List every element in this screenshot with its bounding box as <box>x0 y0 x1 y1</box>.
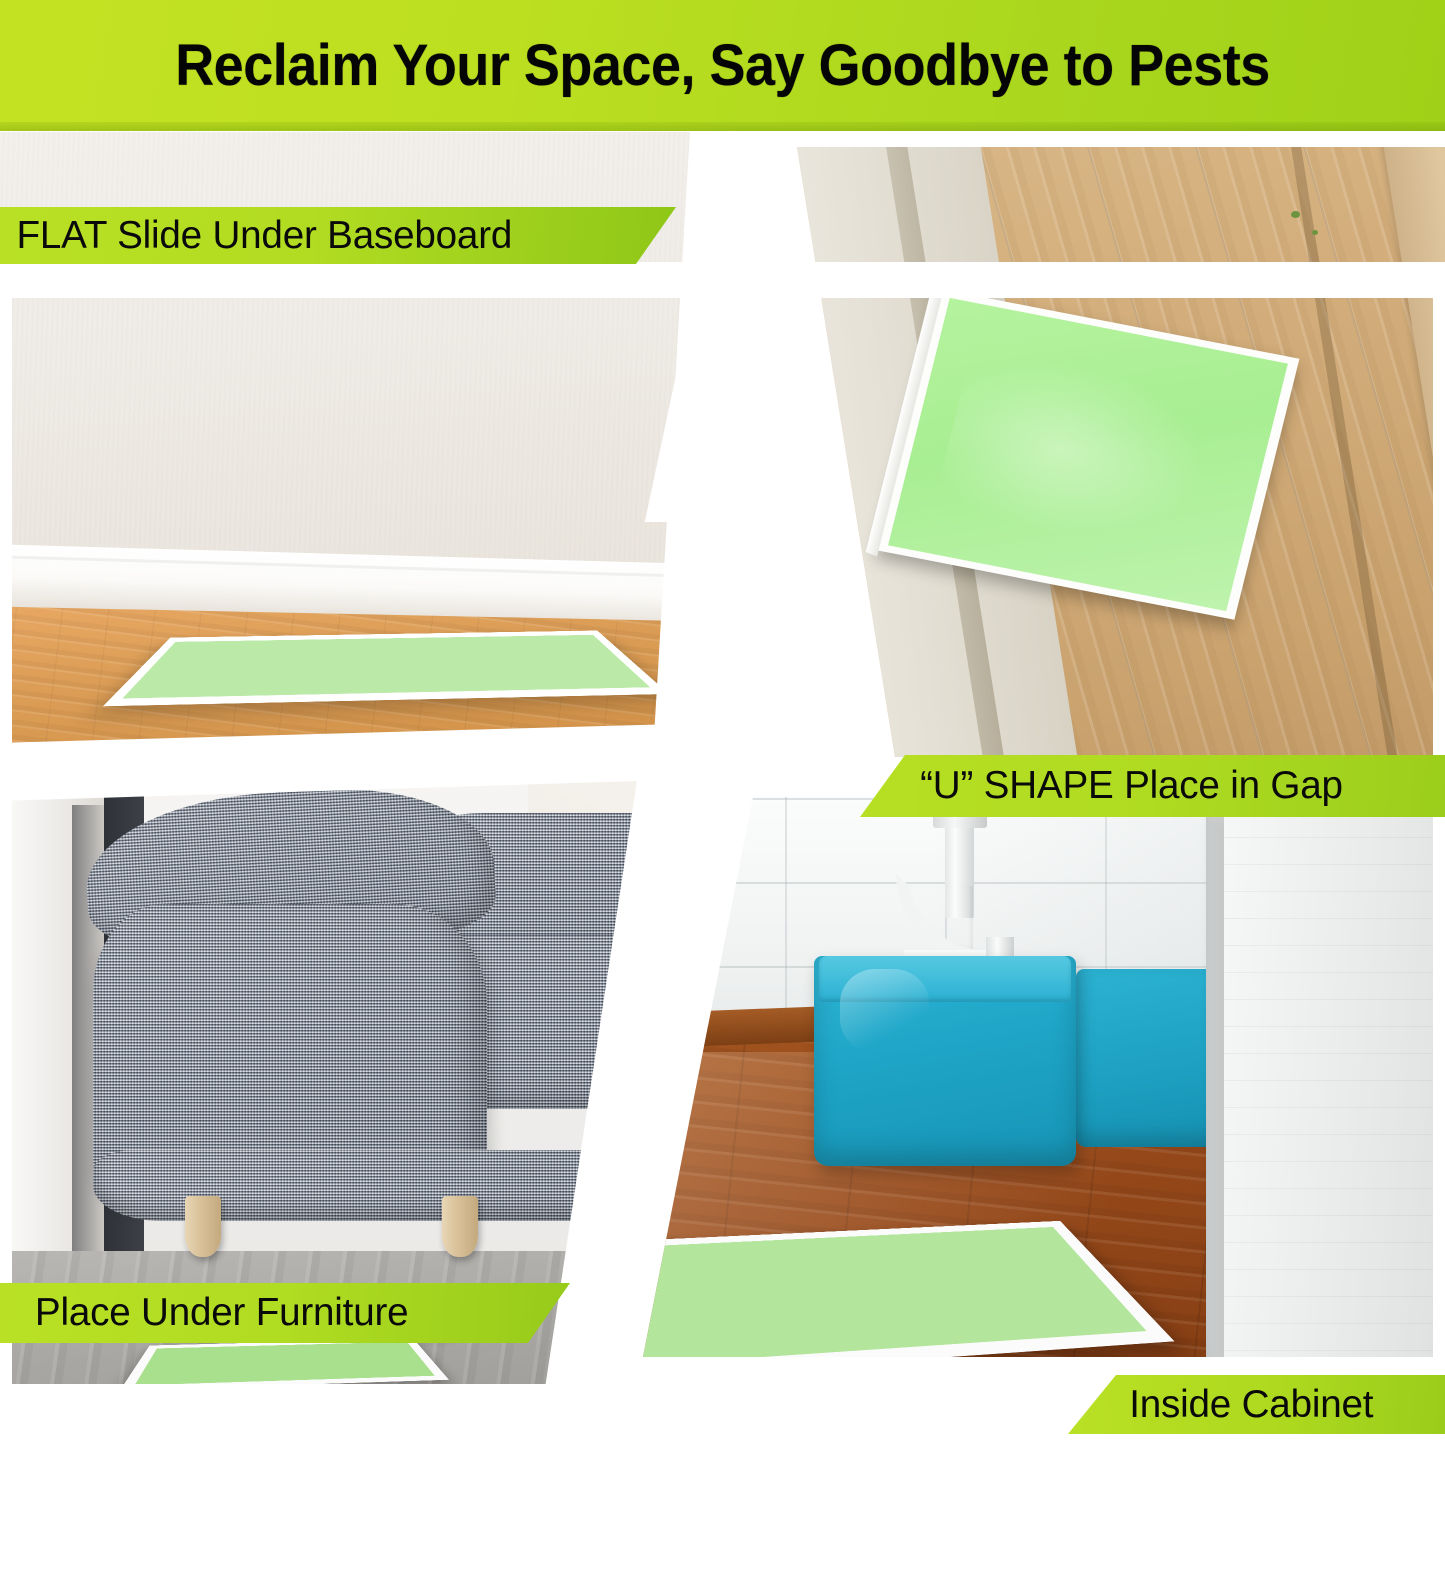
divider-left <box>0 262 12 1565</box>
label-text: FLAT Slide Under Baseboard <box>17 214 513 258</box>
label-place-under-furniture: Place Under Furniture <box>0 1283 570 1343</box>
teal-basin <box>814 956 1076 1166</box>
label-flat-under-baseboard: FLAT Slide Under Baseboard <box>0 207 676 264</box>
sofa-leg-right <box>442 1196 479 1257</box>
green-glue-trap-flat <box>102 631 668 707</box>
glue-surface <box>135 1342 435 1385</box>
glue-surface <box>625 1227 1146 1368</box>
panel-inside-cabinet <box>625 797 1445 1434</box>
label-text: “U” SHAPE Place in Gap <box>920 764 1343 808</box>
glue-surface <box>888 298 1288 611</box>
header-banner: Reclaim Your Space, Say Goodbye to Pests <box>0 0 1445 131</box>
debris-speck <box>1291 211 1300 218</box>
label-text: Place Under Furniture <box>35 1291 409 1335</box>
page-title: Reclaim Your Space, Say Goodbye to Pests <box>175 32 1270 99</box>
sofa-leg-left <box>185 1196 222 1257</box>
label-u-shape-place-in-gap: “U” SHAPE Place in Gap <box>860 755 1445 817</box>
glue-surface <box>122 635 650 699</box>
divider-panel3-bottom <box>0 1461 720 1551</box>
panel-u-shape-in-gap <box>745 147 1445 787</box>
label-inside-cabinet: Inside Cabinet <box>1068 1375 1445 1434</box>
cabinet-door <box>1224 810 1445 1371</box>
cabinet-door-edge <box>1206 810 1224 1371</box>
label-text: Inside Cabinet <box>1129 1383 1373 1427</box>
